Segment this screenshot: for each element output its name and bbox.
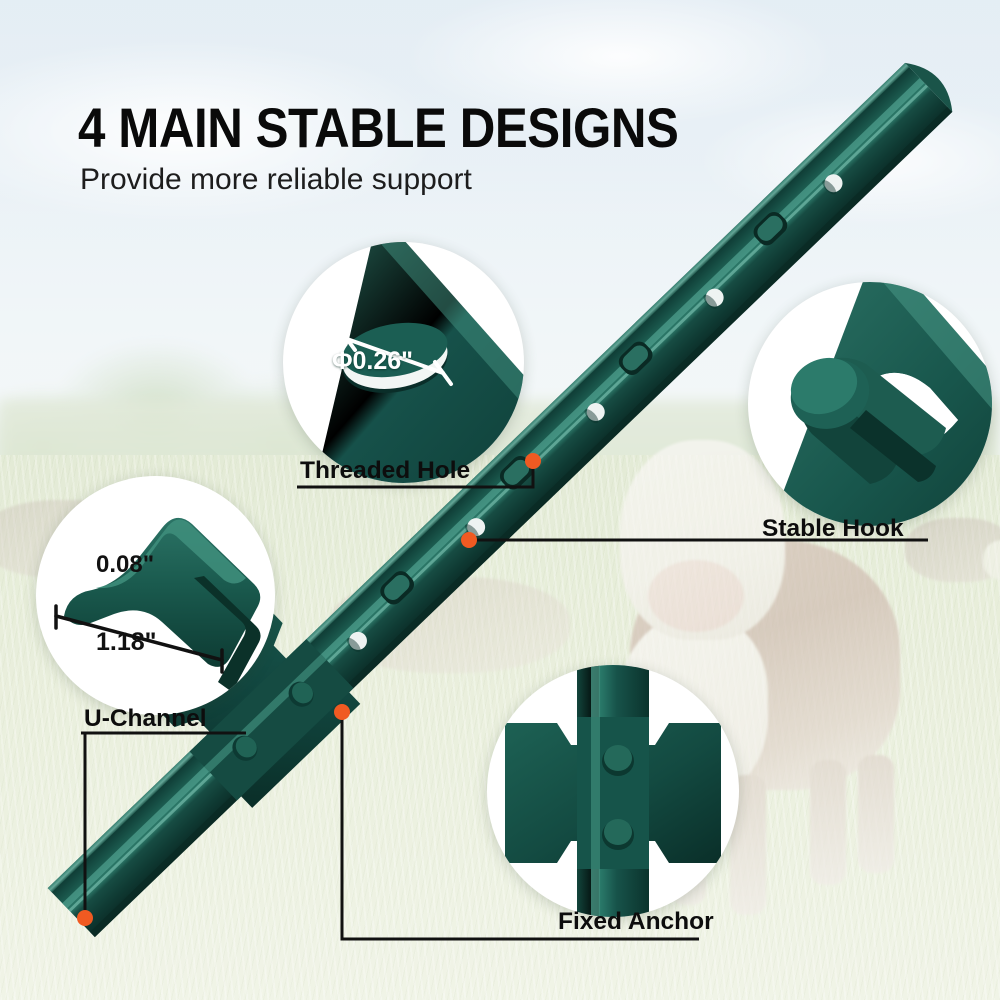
label-threaded-hole: Threaded Hole (300, 457, 470, 485)
label-fixed-anchor: Fixed Anchor (558, 908, 714, 936)
infographic-canvas: Φ0.26" (0, 0, 1000, 1000)
leader-fixed-anchor (342, 712, 699, 939)
label-stable-hook: Stable Hook (762, 515, 904, 543)
marker-u-channel (77, 910, 93, 926)
page-title: 4 MAIN STABLE DESIGNS (78, 95, 678, 160)
label-u-channel: U-Channel (84, 705, 207, 733)
marker-fixed-anchor (334, 704, 350, 720)
marker-threaded-hole (525, 453, 541, 469)
marker-stable-hook (461, 532, 477, 548)
page-subtitle: Provide more reliable support (80, 163, 472, 197)
